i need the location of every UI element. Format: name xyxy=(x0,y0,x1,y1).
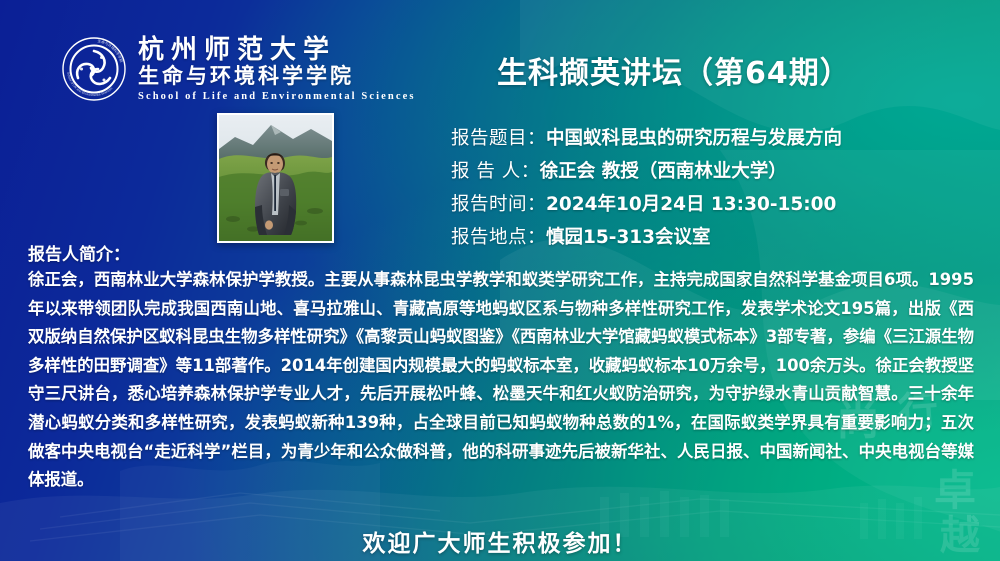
speaker-photo xyxy=(217,113,334,243)
logo-school-name-en: School of Life and Environmental Science… xyxy=(138,91,416,102)
university-logo: 生命与环境科学学院 School of Life and Environment… xyxy=(62,36,416,102)
bio-body: 徐正会，西南林业大学森林保护学教授。主要从事森林昆虫学教学和蚁类学研究工作，主持… xyxy=(28,266,974,495)
meta-row-topic: 报告题目：中国蚁科昆虫的研究历程与发展方向 xyxy=(451,124,842,150)
svg-text:生命与环境科学学院: 生命与环境科学学院 xyxy=(97,38,124,63)
page-title: 生科撷英讲坛（第64期） xyxy=(497,48,851,92)
logo-school-name: 生命与环境科学学院 xyxy=(138,64,416,88)
bio-heading: 报告人简介： xyxy=(28,240,130,265)
meta-row-time: 报告时间：2024年10月24日 13:30-15:00 xyxy=(451,190,842,216)
meta-label-time: 报告时间： xyxy=(451,194,546,215)
meta-value-speaker: 徐正会 教授（西南林业大学） xyxy=(540,161,787,182)
emblem-icon: 生命与环境科学学院 School of Life and Environment… xyxy=(62,37,126,101)
logo-university-name: 杭州师范大学 xyxy=(138,36,416,64)
meta-row-venue: 报告地点：慎园15-313会议室 xyxy=(451,223,842,249)
meta-value-venue: 慎园15-313会议室 xyxy=(546,227,711,248)
lecture-poster: 尚 行 卓 越 xyxy=(0,0,1000,561)
meta-row-speaker: 报 告 人：徐正会 教授（西南林业大学） xyxy=(451,157,842,183)
meta-value-topic: 中国蚁科昆虫的研究历程与发展方向 xyxy=(546,128,842,149)
meta-label-speaker: 报 告 人： xyxy=(451,161,540,182)
meta-label-topic: 报告题目： xyxy=(451,128,546,149)
welcome-note: 欢迎广大师生积极参加！ xyxy=(0,524,1000,558)
meta-label-venue: 报告地点： xyxy=(451,227,546,248)
meta-value-time: 2024年10月24日 13:30-15:00 xyxy=(546,194,836,215)
lecture-meta: 报告题目：中国蚁科昆虫的研究历程与发展方向 报 告 人：徐正会 教授（西南林业大… xyxy=(451,124,842,249)
